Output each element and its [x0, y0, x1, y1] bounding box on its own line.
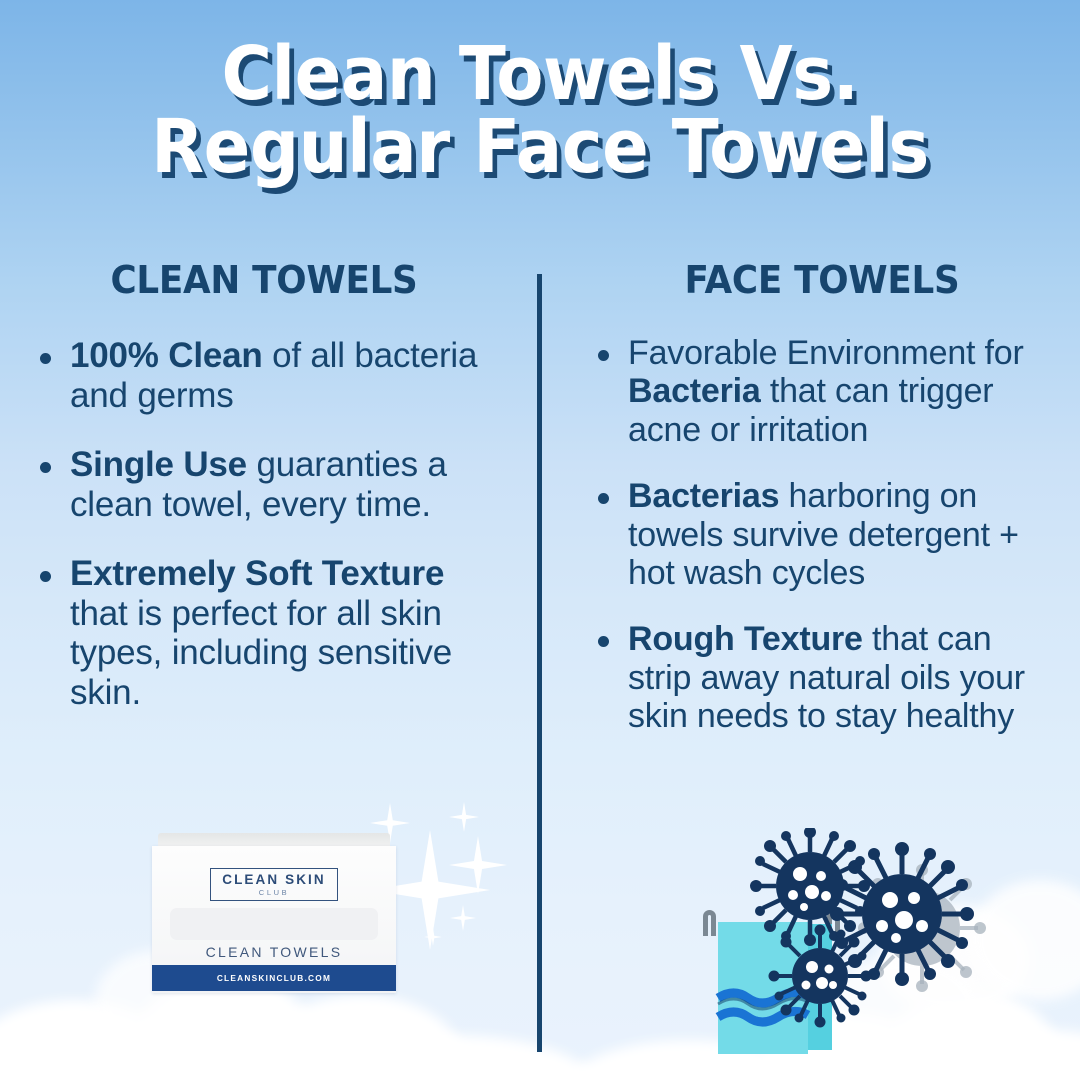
bullet-bold-text: Extremely Soft Texture: [70, 554, 444, 593]
cloud-icon: [255, 995, 465, 1080]
list-item: Rough Texture that can strip away natura…: [586, 620, 1058, 735]
title-line-2: Regular Face Towels: [38, 111, 1042, 184]
list-item: 100% Clean of all bacteria and germs: [28, 336, 500, 415]
column-header-face-towels: FACE TOWELS: [600, 258, 1044, 302]
list-item: Favorable Environment for Bacteria that …: [586, 334, 1058, 449]
product-logo-sub: CLUB: [259, 889, 289, 897]
sparkle-star-icon: [449, 836, 507, 894]
title-line-1: Clean Towels Vs.: [38, 38, 1042, 111]
germ-icon-small: [769, 925, 872, 1028]
bullet-bold-text: Single Use: [70, 445, 247, 484]
column-header-clean-towels: CLEAN TOWELS: [42, 258, 486, 302]
list-item: Single Use guaranties a clean towel, eve…: [28, 445, 500, 524]
column-clean-towels: CLEAN TOWELS 100% Clean of all bacteria …: [0, 258, 540, 764]
sparkle-star-icon: [424, 928, 442, 946]
product-box-body: CLEAN SKIN CLUB CLEAN TOWELS 50 CT | EXT…: [152, 846, 396, 993]
cloud-icon: [60, 1020, 320, 1080]
list-item: Extremely Soft Texture that is perfect f…: [28, 554, 500, 712]
bullet-bold-text: Bacteria: [628, 372, 761, 410]
bullet-text: that is perfect for all skin types, incl…: [70, 594, 452, 712]
bullet-list-face-towels: Favorable Environment for Bacteria that …: [586, 334, 1058, 736]
bullet-bold-text: Bacterias: [628, 477, 779, 515]
page-title: Clean Towels Vs. Regular Face Towels: [0, 38, 1080, 183]
germ-particles-icon: [690, 828, 990, 1080]
product-box-icon: CLEAN SKIN CLUB CLEAN TOWELS 50 CT | EXT…: [152, 833, 396, 993]
bullet-bold-text: 100% Clean: [70, 336, 263, 375]
bullet-list-clean-towels: 100% Clean of all bacteria and germs Sin…: [28, 336, 500, 712]
product-box-emboss: [170, 908, 378, 940]
product-url-bar: CLEANSKINCLUB.COM: [152, 965, 396, 991]
product-logo-frame: CLEAN SKIN CLUB: [210, 868, 338, 901]
cloud-icon: [0, 1000, 190, 1080]
dirty-towel-with-germs-icon: [690, 828, 990, 1080]
bullet-bold-text: Rough Texture: [628, 620, 863, 658]
cloud-icon: [300, 1035, 600, 1080]
column-face-towels: FACE TOWELS Favorable Environment for Ba…: [540, 258, 1080, 764]
product-name: CLEAN TOWELS: [152, 944, 396, 960]
sparkle-star-icon: [449, 802, 479, 832]
germ-icon-large: [830, 842, 974, 986]
list-item: Bacterias harboring on towels survive de…: [586, 477, 1058, 592]
comparison-columns: CLEAN TOWELS 100% Clean of all bacteria …: [0, 258, 1080, 764]
sparkle-star-icon: [450, 905, 476, 931]
germ-icon-medium: [750, 828, 870, 946]
bullet-text: Favorable Environment for: [628, 334, 1024, 372]
product-logo-main: CLEAN SKIN: [222, 873, 326, 887]
product-url: CLEANSKINCLUB.COM: [217, 973, 331, 983]
